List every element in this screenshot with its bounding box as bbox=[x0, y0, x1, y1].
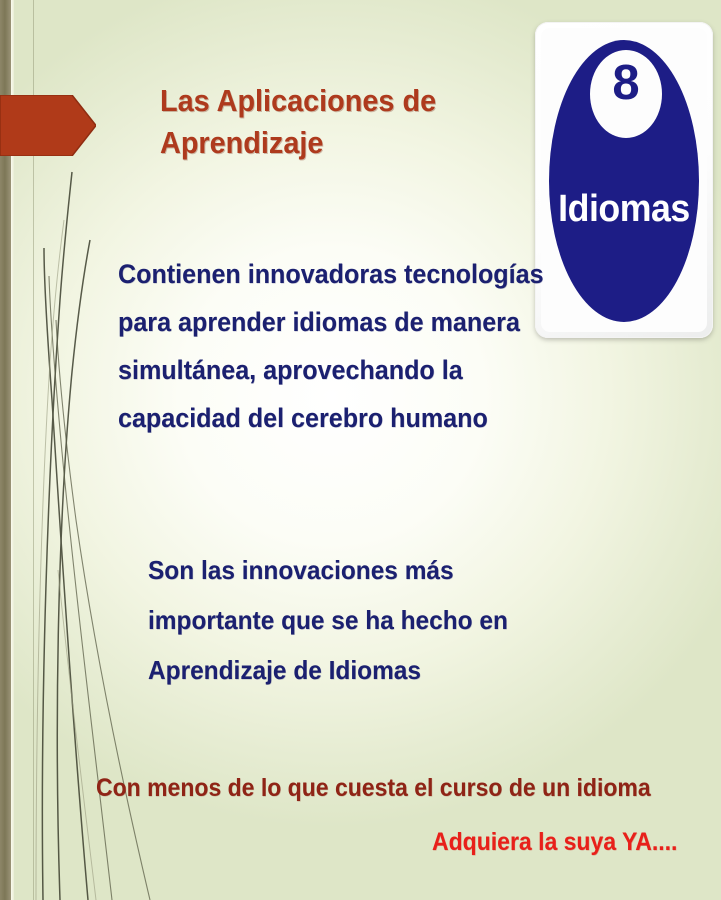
paragraph-two-line-1: Son las innovaciones más bbox=[148, 545, 508, 595]
logo-navy-ellipse: 8 Idiomas bbox=[549, 40, 699, 322]
paragraph-two-line-3: Aprendizaje de Idiomas bbox=[148, 645, 508, 695]
paragraph-two: Son las innovaciones más importante que … bbox=[148, 545, 508, 695]
idiomas-logo-card: 8 Idiomas bbox=[535, 22, 713, 338]
call-to-action-text: Adquiera la suya YA.... bbox=[432, 826, 677, 858]
paragraph-one-line-2: para aprender idiomas de manera bbox=[118, 298, 544, 346]
paragraph-two-line-2: importante que se ha hecho en bbox=[148, 595, 508, 645]
logo-card-inner: 8 Idiomas bbox=[541, 28, 707, 332]
logo-word-idiomas: Idiomas bbox=[554, 190, 695, 228]
paragraph-one: Contienen innovadoras tecnologías para a… bbox=[118, 250, 544, 442]
logo-white-circle: 8 bbox=[590, 50, 662, 138]
paragraph-one-line-1: Contienen innovadoras tecnologías bbox=[118, 250, 544, 298]
paragraph-one-line-4: capacidad del cerebro humano bbox=[118, 394, 544, 442]
red-arrow-accent bbox=[0, 95, 96, 156]
price-tagline: Con menos de lo que cuesta el curso de u… bbox=[96, 772, 651, 804]
paragraph-one-line-3: simultánea, aprovechando la bbox=[118, 346, 544, 394]
title-line-2: Aprendizaje bbox=[160, 122, 513, 164]
title-line-1: Las Aplicaciones de bbox=[160, 80, 513, 122]
page-title: Las Aplicaciones de Aprendizaje bbox=[160, 80, 513, 164]
slide-canvas: 8 Idiomas Las Aplicaciones de Aprendizaj… bbox=[0, 0, 721, 900]
logo-number-eight: 8 bbox=[590, 59, 662, 108]
